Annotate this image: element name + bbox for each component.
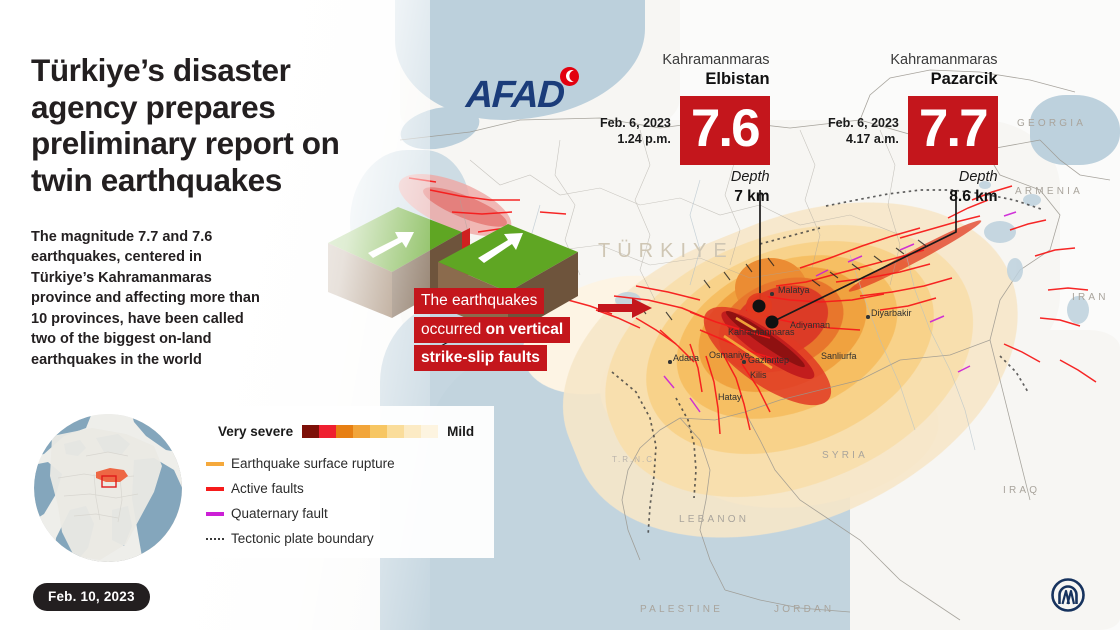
line-swatch-icon [206,487,224,491]
callout-line-2: occurred on vertical [414,317,570,343]
quake-datetime-elbistan: Feb. 6, 2023 1.24 p.m. [600,96,680,147]
dotted-line-swatch-icon [206,538,224,540]
quake-card-elbistan: Kahramanmaras Elbistan Feb. 6, 2023 1.24… [600,52,770,206]
callout-line-2-regular: occurred [421,321,486,338]
quake-depth-value-pazarcik: 8.6 km [828,187,998,206]
legend-scale-low-label: Mild [447,424,474,439]
anadolu-agency-logo [1049,578,1087,612]
legend-scale-step-3 [353,425,370,438]
legend-item-label-2: Quaternary fault [231,506,328,521]
legend-item-list: Earthquake surface ruptureActive faultsQ… [196,439,494,551]
callout-line-1: The earthquakes [414,288,544,314]
legend-scale-step-4 [370,425,387,438]
date-badge: Feb. 10, 2023 [33,583,150,611]
map-legend: Very severe Mild Earthquake surface rupt… [196,406,494,558]
globe-contents [34,414,182,562]
quake-province-elbistan: Kahramanmaras [600,52,770,69]
quake-depth-label-elbistan: Depth [600,169,770,186]
legend-scale-high-label: Very severe [218,424,293,439]
legend-scale-step-1 [319,425,336,438]
quake-province-pazarcik: Kahramanmaras [828,52,998,69]
quake-date-pazarcik: Feb. 6, 2023 [828,115,899,131]
standfirst-text: The magnitude 7.7 and 7.6 earthquakes, c… [31,227,263,370]
quake-magnitude-elbistan: 7.6 [680,96,770,165]
legend-scale-step-7 [421,425,438,438]
legend-item-1: Active faults [206,476,494,501]
line-swatch-icon [206,462,224,466]
legend-item-label-3: Tectonic plate boundary [231,531,374,546]
legend-intensity-scale: Very severe Mild [196,406,494,439]
quake-depth-pazarcik: Depth 8.6 km [828,169,998,206]
quake-city-elbistan: Elbistan [600,70,770,90]
quake-date-elbistan: Feb. 6, 2023 [600,115,671,131]
quake-magnitude-pazarcik: 7.7 [908,96,998,165]
legend-scale-step-0 [302,425,319,438]
callout-line-3: strike-slip faults [414,345,547,371]
quake-depth-label-pazarcik: Depth [828,169,998,186]
callout-line-3-bold: strike-slip faults [421,349,540,366]
globe-graphic [34,414,182,562]
quake-time-pazarcik: 4.17 a.m. [828,131,899,147]
legend-scale-step-6 [404,425,421,438]
strike-slip-callout: The earthquakes occurred on vertical str… [414,288,594,374]
legend-item-0: Earthquake surface rupture [206,451,494,476]
quake-datetime-pazarcik: Feb. 6, 2023 4.17 a.m. [828,96,908,147]
legend-item-label-0: Earthquake surface rupture [231,456,395,471]
afad-logo: AFAD [466,76,563,114]
afad-wordmark: AFAD [465,76,564,114]
legend-scale-step-5 [387,425,404,438]
legend-scale-step-2 [336,425,353,438]
line-swatch-icon [206,512,224,516]
globe-inset [34,414,182,562]
page-title: Türkiye’s disaster agency prepares preli… [31,52,401,198]
quake-city-pazarcik: Pazarcik [828,70,998,90]
legend-item-2: Quaternary fault [206,501,494,526]
legend-item-3: Tectonic plate boundary [206,526,494,551]
infographic-root: TÜRKIYE T.R.N.C. GEORGIA ARMENIA IRAN IR… [0,0,1120,630]
quake-depth-elbistan: Depth 7 km [600,169,770,206]
callout-line-2-bold: on vertical [486,321,564,338]
quake-depth-value-elbistan: 7 km [600,187,770,206]
legend-item-label-1: Active faults [231,481,304,496]
quake-card-pazarcik: Kahramanmaras Pazarcik Feb. 6, 2023 4.17… [828,52,998,206]
quake-time-elbistan: 1.24 p.m. [600,131,671,147]
legend-scale-gradient [302,425,438,438]
